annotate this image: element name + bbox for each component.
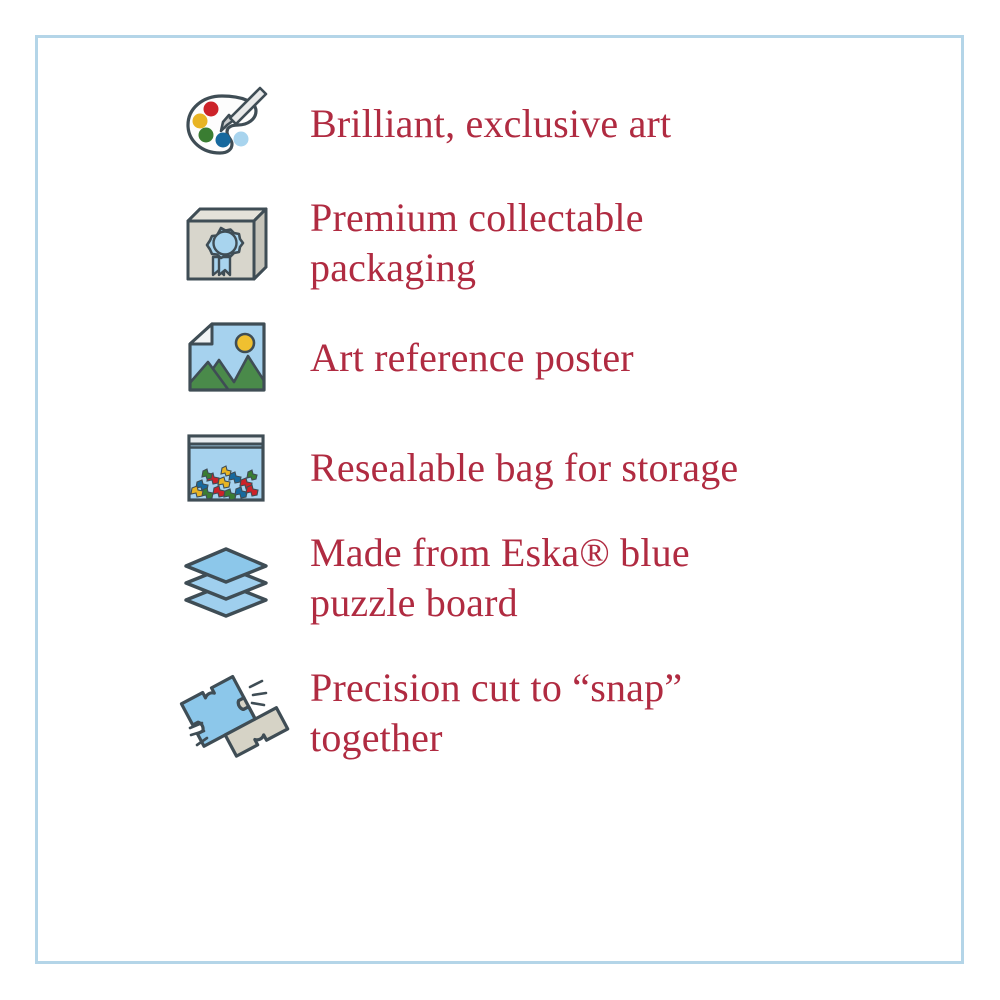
feature-row: Art reference poster — [178, 310, 634, 406]
poster-image-icon — [178, 310, 274, 406]
feature-row: Resealable bag for storage — [178, 420, 738, 516]
stacked-board-layers-icon — [178, 530, 274, 626]
feature-row: Made from Eska® blue puzzle board — [178, 528, 690, 628]
feature-label: Made from Eska® blue puzzle board — [310, 528, 690, 628]
artist-palette-icon — [178, 76, 274, 172]
resealable-bag-icon — [178, 420, 274, 516]
feature-row: Brilliant, exclusive art — [178, 76, 671, 172]
feature-list: Brilliant, exclusive art Premium collect… — [38, 38, 961, 961]
feature-row: Premium collectable packaging — [178, 193, 644, 293]
feature-label: Resealable bag for storage — [310, 443, 738, 493]
feature-card: Brilliant, exclusive art Premium collect… — [35, 35, 964, 964]
feature-label: Brilliant, exclusive art — [310, 99, 671, 149]
feature-row: Precision cut to “snap” together — [178, 663, 682, 763]
feature-label: Art reference poster — [310, 333, 634, 383]
award-box-icon — [178, 195, 274, 291]
puzzle-pieces-snap-icon — [178, 665, 274, 761]
feature-label: Precision cut to “snap” together — [310, 663, 682, 763]
feature-label: Premium collectable packaging — [310, 193, 644, 293]
